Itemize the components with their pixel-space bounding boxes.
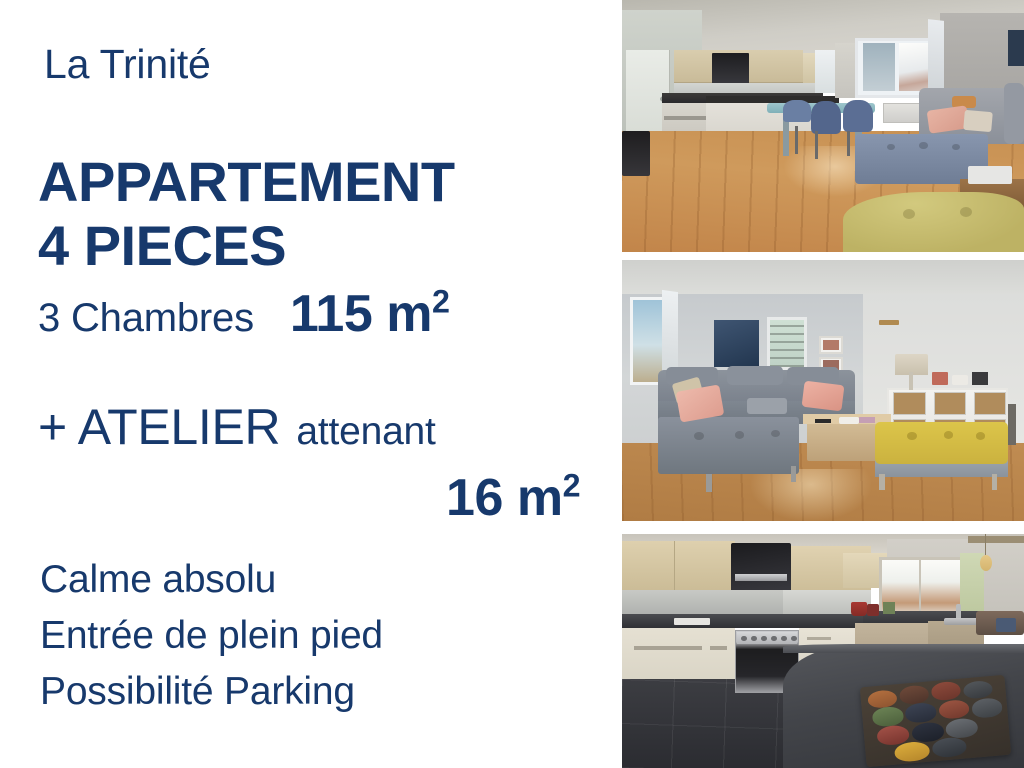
drawer-handle [664,116,708,120]
ottoman-tuft [944,431,954,439]
area-main: 115 m2 [290,288,450,340]
table-decor-object [839,417,859,425]
ceramic-pot [931,737,967,759]
chair-leg [815,131,818,159]
picture-frame-image [823,340,839,350]
pouf-tuft [960,207,972,217]
ceramic-pot [894,741,930,763]
range-knob [741,636,747,642]
area-atelier-value: 16 m [446,469,563,527]
dining-chair [783,100,811,123]
kitchen-jar [851,602,867,616]
floor-reflection [751,469,872,521]
area-main-value: 115 m [290,285,432,343]
bedrooms-count: 3 Chambres [38,298,254,338]
photo-living-room [622,260,1024,521]
olive-pouf [843,192,1024,252]
shelf-basket [934,392,966,415]
features-list: Calme absolu Entrée de plein pied Possib… [40,552,600,720]
ceramic-pot [972,698,1004,719]
window-mullion [919,557,921,618]
range-knob [781,636,787,642]
floor-lamp-stand [1008,404,1016,446]
range-knob [791,636,797,642]
cabinet-divider [674,541,675,592]
ottoman-leg [879,474,885,490]
city-name: La Trinité [44,44,211,85]
ceramic-pot [963,680,993,700]
listing-text-column: La Trinité APPARTEMENT 4 PIECES 3 Chambr… [0,0,616,768]
upper-cabinets [622,541,735,592]
shelf-basket [893,392,925,415]
ottoman-leg [992,474,998,490]
photo-column [622,0,1024,768]
pendant-bulb [980,555,992,571]
sofa-leg [791,466,797,482]
dining-chair [811,101,841,134]
feature-item: Calme absolu [40,552,600,608]
cabinet-handle [807,637,831,640]
table-decor-object [859,417,875,423]
sofa-armrest [1004,83,1024,143]
shelf-decor-object [932,372,948,385]
kitchen-jar [867,604,879,616]
ceramic-pot [905,703,937,724]
chair-leg [795,126,798,154]
feature-item: Possibilité Parking [40,664,600,720]
cabinet-handle [634,646,702,650]
kitchen-sink [944,618,980,625]
plant [883,602,895,614]
range-hood [712,53,748,85]
listing-slide: La Trinité APPARTEMENT 4 PIECES 3 Chambr… [0,0,1024,768]
headline-block: APPARTEMENT 4 PIECES [38,150,598,278]
atelier-area-row: 16 m2 [38,472,580,524]
window-open-sash [928,19,944,96]
cushion-grey [747,398,787,414]
shelf-basket [974,392,1006,415]
chaise-tuft [735,431,745,439]
ceramic-pot [899,685,929,705]
sofa-chaise [658,417,799,474]
feature-item: Entrée de plein pied [40,608,600,664]
window-pane-left [863,43,895,91]
island-edge [783,644,1024,653]
atelier-qualifier: attenant [296,412,435,451]
shelf-decor-object [972,372,988,385]
area-atelier: 16 m2 [446,469,580,527]
range-hood [731,543,791,594]
headline-line-1: APPARTEMENT [38,150,598,214]
pot-tray [860,675,1011,767]
wall-sockets [674,618,710,625]
photo-living-kitchen-open-plan [622,0,1024,252]
remote-control [815,419,831,423]
photo-kitchen [622,534,1024,768]
atelier-row: + ATELIER attenant [38,402,594,452]
ceramic-pot [872,707,904,728]
rooms-and-area-row: 3 Chambres 115 m2 [38,288,586,340]
dining-chair [843,100,873,133]
wall-hook-rack [879,320,899,325]
pendant-cord [985,534,986,555]
mustard-ottoman [875,422,1008,464]
range-knob [761,636,767,642]
area-main-superscript: 2 [432,284,449,320]
ceramic-pot [946,718,979,740]
ceiling-beam [968,536,1024,543]
range-hood-lip [735,574,787,581]
chair-leg [847,131,850,156]
background-object [996,618,1016,632]
ottoman-tuft [952,144,960,151]
countertop [622,614,871,628]
black-chair [622,131,650,176]
headline-line-2: 4 PIECES [38,214,598,278]
cabinet-handle [710,646,726,650]
cushion-pink [801,380,844,411]
range-knob [751,636,757,642]
ottoman-tuft [919,142,927,149]
ceramic-pot [931,682,961,702]
ceramic-pot [938,699,970,720]
sofa-leg [706,474,712,492]
sofa-headrest [727,366,783,386]
shelf-decor-object [952,375,968,385]
tray-with-candles [968,166,1012,184]
cushion-beige [963,110,993,133]
atelier-label: + ATELIER [38,402,280,452]
wall-art [1008,30,1024,65]
middle-window [767,317,807,369]
table-lamp-stem [909,372,914,390]
area-atelier-superscript: 2 [563,468,580,504]
range-knob [771,636,777,642]
wall-art [714,320,758,367]
